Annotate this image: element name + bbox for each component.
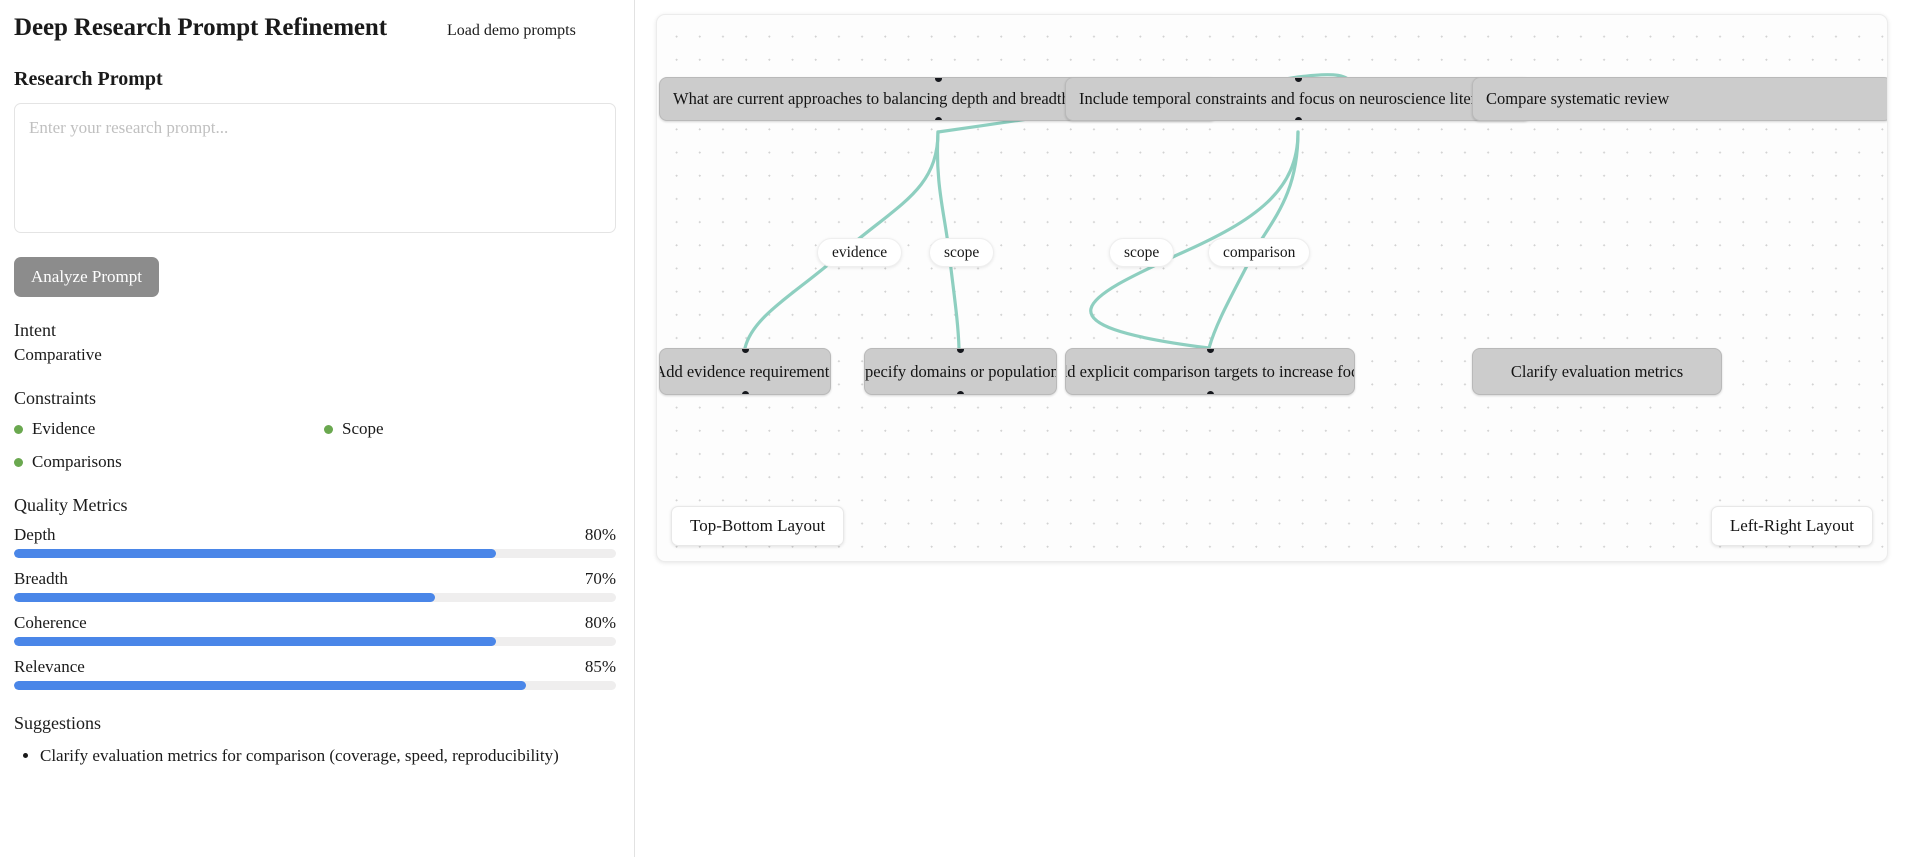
metric-label-row: Breadth70% xyxy=(14,569,616,589)
metric-percent: 80% xyxy=(585,613,616,633)
metric-bar-fill xyxy=(14,681,526,690)
metric-bar-fill xyxy=(14,637,496,646)
constraint-bullet-icon xyxy=(324,425,333,434)
node-handle-bottom[interactable] xyxy=(1207,391,1214,396)
left-panel: Deep Research Prompt Refinement Load dem… xyxy=(0,0,635,857)
edge-label-evidence[interactable]: evidence xyxy=(817,238,902,267)
edge-label-comparison[interactable]: comparison xyxy=(1208,238,1310,267)
node-handle-bottom[interactable] xyxy=(935,117,942,122)
prompt-node-text: Include temporal constraints and focus o… xyxy=(1079,89,1531,109)
flow-graph-panel[interactable]: What are current approaches to balancing… xyxy=(656,14,1888,562)
quality-metrics-heading: Quality Metrics xyxy=(14,495,614,516)
metric-row: Breadth70% xyxy=(14,569,614,602)
metric-label: Relevance xyxy=(14,657,85,677)
suggestion-node-text: Specify domains or populations xyxy=(864,362,1057,382)
metric-label: Coherence xyxy=(14,613,87,633)
left-right-layout-button[interactable]: Left-Right Layout xyxy=(1711,506,1873,546)
constraint-label: Comparisons xyxy=(32,452,122,472)
metric-bar-fill xyxy=(14,593,435,602)
metric-percent: 70% xyxy=(585,569,616,589)
metric-label: Depth xyxy=(14,525,56,545)
node-handle-top[interactable] xyxy=(1295,77,1302,82)
metric-label-row: Relevance85% xyxy=(14,657,616,677)
suggestion-node[interactable]: Add explicit comparison targets to incre… xyxy=(1065,348,1355,395)
canvas-area: What are current approaches to balancing… xyxy=(635,0,1907,857)
quality-metrics-section: Quality Metrics Depth80%Breadth70%Cohere… xyxy=(14,495,614,690)
intent-heading: Intent xyxy=(14,320,614,341)
constraint-label: Evidence xyxy=(32,419,95,439)
prompt-node[interactable]: Include temporal constraints and focus o… xyxy=(1065,77,1531,121)
node-handle-top[interactable] xyxy=(957,348,964,353)
edge-label-scope-1[interactable]: scope xyxy=(929,238,994,267)
suggestion-node[interactable]: Specify domains or populations xyxy=(864,348,1057,395)
metric-row: Coherence80% xyxy=(14,613,614,646)
metric-bar-track xyxy=(14,549,616,558)
metric-bar-track xyxy=(14,637,616,646)
constraints-heading: Constraints xyxy=(14,388,614,409)
constraints-section: Constraints EvidenceScopeComparisons xyxy=(14,388,614,472)
prompt-node[interactable]: Compare systematic review xyxy=(1472,77,1888,121)
suggestion-node-text: Add explicit comparison targets to incre… xyxy=(1065,362,1355,382)
load-demo-prompts-link[interactable]: Load demo prompts xyxy=(447,22,576,40)
metric-label-row: Coherence80% xyxy=(14,613,616,633)
analyze-prompt-button[interactable]: Analyze Prompt xyxy=(14,257,159,297)
constraints-list: EvidenceScopeComparisons xyxy=(14,419,614,472)
intent-value: Comparative xyxy=(14,345,614,365)
node-handle-top[interactable] xyxy=(1207,348,1214,353)
suggestion-node-text: Clarify evaluation metrics xyxy=(1511,362,1683,382)
metric-label: Breadth xyxy=(14,569,68,589)
metric-row: Depth80% xyxy=(14,525,614,558)
constraint-item: Comparisons xyxy=(14,452,324,472)
metric-percent: 85% xyxy=(585,657,616,677)
suggestion-item: Clarify evaluation metrics for compariso… xyxy=(40,743,614,769)
app-header: Deep Research Prompt Refinement Load dem… xyxy=(14,14,614,42)
metrics-list: Depth80%Breadth70%Coherence80%Relevance8… xyxy=(14,525,614,690)
metric-bar-track xyxy=(14,681,616,690)
constraint-item: Scope xyxy=(324,419,634,439)
edge-label-scope-2[interactable]: scope xyxy=(1109,238,1174,267)
node-handle-bottom[interactable] xyxy=(957,391,964,396)
research-prompt-heading: Research Prompt xyxy=(14,68,614,91)
node-handle-top[interactable] xyxy=(935,77,942,82)
research-prompt-input[interactable] xyxy=(14,103,616,233)
node-handle-bottom[interactable] xyxy=(1295,117,1302,122)
suggestion-node-text: Add evidence requirements xyxy=(659,362,831,382)
suggestions-section: Suggestions Clarify evaluation metrics f… xyxy=(14,713,614,769)
constraint-item: Evidence xyxy=(14,419,324,439)
suggestion-node[interactable]: Clarify evaluation metrics xyxy=(1472,348,1722,395)
metric-percent: 80% xyxy=(585,525,616,545)
metric-bar-track xyxy=(14,593,616,602)
suggestion-node[interactable]: Add evidence requirements xyxy=(659,348,831,395)
node-handle-top[interactable] xyxy=(742,348,749,353)
node-handle-bottom[interactable] xyxy=(742,391,749,396)
constraint-bullet-icon xyxy=(14,458,23,467)
suggestions-items: Clarify evaluation metrics for compariso… xyxy=(14,743,614,769)
constraint-bullet-icon xyxy=(14,425,23,434)
prompt-node-text: Compare systematic review xyxy=(1486,89,1669,109)
intent-section: Intent Comparative xyxy=(14,320,614,365)
metric-bar-fill xyxy=(14,549,496,558)
page-title: Deep Research Prompt Refinement xyxy=(14,14,387,42)
metric-row: Relevance85% xyxy=(14,657,614,690)
top-bottom-layout-button[interactable]: Top-Bottom Layout xyxy=(671,506,844,546)
constraint-label: Scope xyxy=(342,419,384,439)
metric-label-row: Depth80% xyxy=(14,525,616,545)
suggestions-heading: Suggestions xyxy=(14,713,614,734)
